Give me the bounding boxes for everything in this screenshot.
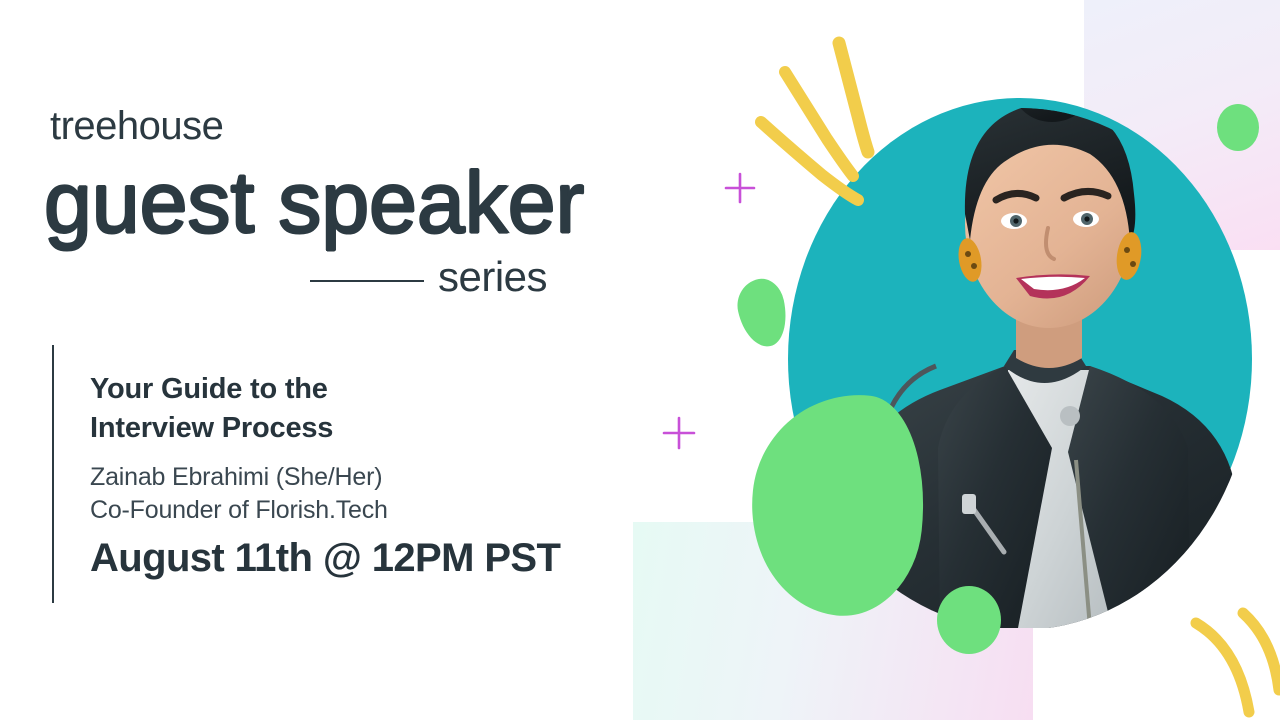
- series-label: series: [438, 256, 547, 298]
- series-divider-rule: [310, 280, 424, 282]
- green-circle-dot-bottom: [937, 586, 1001, 654]
- event-datetime: August 11th @ 12PM PST: [90, 536, 560, 580]
- left-accent-rule: [52, 345, 54, 603]
- brand-wordmark: treehouse: [50, 106, 223, 146]
- promo-slide: treehouse guest speaker series Your Guid…: [0, 0, 1280, 720]
- talk-title: Your Guide to the Interview Process: [90, 370, 610, 447]
- speaker-role: Co-Founder of Florish.Tech: [90, 494, 388, 527]
- talk-title-line-1: Your Guide to the: [90, 373, 328, 405]
- talk-title-line-2: Interview Process: [90, 409, 610, 448]
- green-bean-blob-small: [732, 275, 792, 351]
- speaker-name: Zainab Ebrahimi (She/Her): [90, 461, 382, 494]
- headline-outline-text: guest speaker: [44, 160, 584, 246]
